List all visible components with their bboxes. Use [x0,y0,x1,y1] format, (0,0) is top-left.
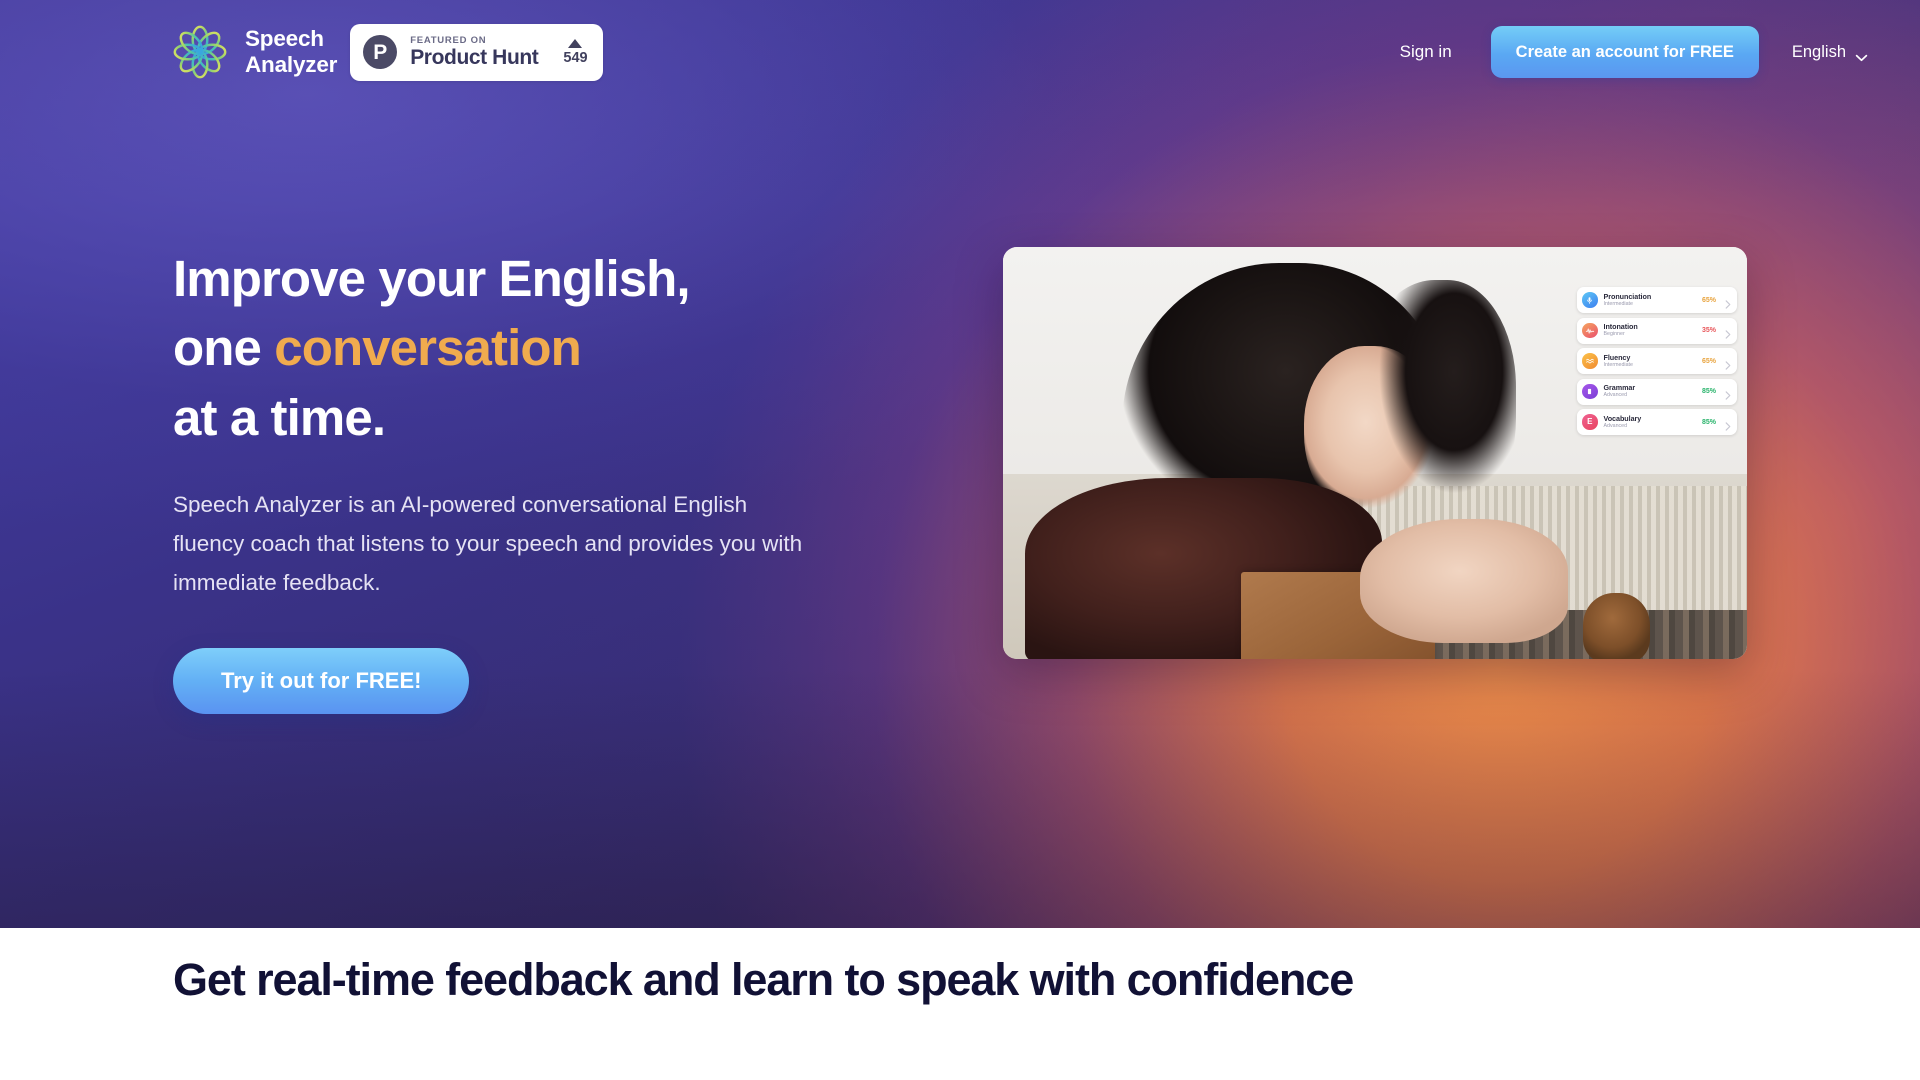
hero-copy: Improve your English, one conversation a… [0,0,820,714]
rosette-logo-icon [172,24,228,80]
features-section: Get real-time feedback and learn to spea… [0,928,1920,1080]
brand-logo[interactable]: Speech Analyzer [172,24,337,80]
hero-subtext: Speech Analyzer is an AI-powered convers… [173,485,820,602]
site-header: Speech Analyzer P FEATURED ON Product Hu… [0,0,1920,104]
hero-section: Speech Analyzer P FEATURED ON Product Hu… [0,0,1920,928]
triangle-up-icon [568,39,582,48]
hero-heading-accent-word: conversation [274,319,581,376]
header-nav: Sign in Create an account for FREE Engli… [1392,26,1868,78]
product-hunt-upvotes[interactable]: 549 [563,39,587,66]
sign-in-link[interactable]: Sign in [1392,32,1460,72]
hero-heading-line-3: at a time. [173,389,385,446]
create-account-button[interactable]: Create an account for FREE [1491,26,1759,78]
hero-heading-line-2-prefix: one [173,319,274,376]
product-hunt-badge[interactable]: P FEATURED ON Product Hunt 549 [350,24,602,81]
product-hunt-logo-icon: P [363,35,397,69]
product-hunt-upvote-count: 549 [563,50,587,66]
brand-name: Speech Analyzer [245,26,337,78]
language-label: English [1792,43,1846,62]
product-hunt-featured-label: FEATURED ON [410,35,538,46]
features-heading: Get real-time feedback and learn to spea… [173,954,1353,1006]
hero-heading: Improve your English, one conversation a… [173,244,820,452]
try-it-out-button[interactable]: Try it out for FREE! [173,648,469,714]
language-selector[interactable]: English [1792,43,1868,62]
product-hunt-name: Product Hunt [410,47,538,69]
chevron-down-icon [1855,48,1868,56]
hero-heading-line-1: Improve your English, [173,250,690,307]
